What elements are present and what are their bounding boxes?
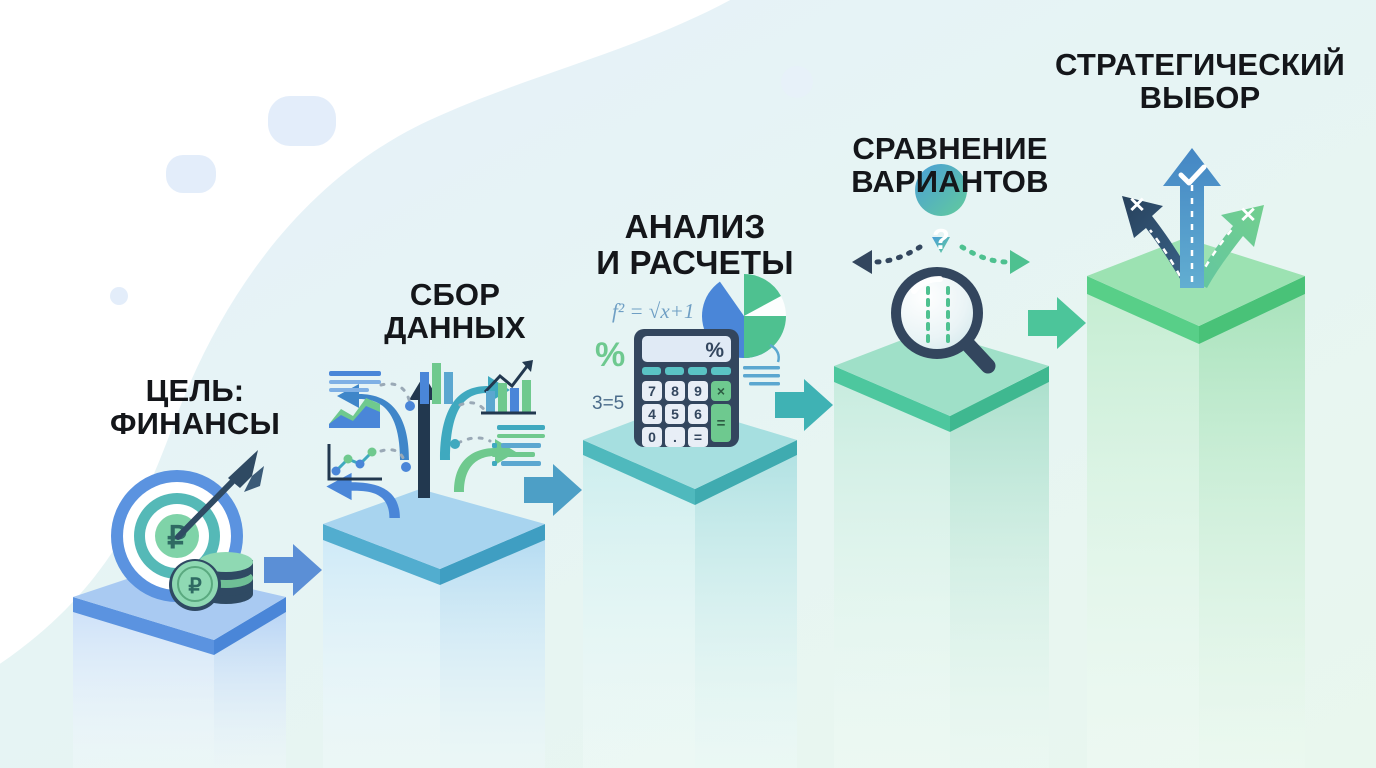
dotted-arrow-left [852,247,920,274]
connector-arrow-1 [264,544,322,596]
svg-text:0: 0 [648,429,656,445]
question-mark: ? [932,224,950,256]
svg-text:=: = [694,429,702,445]
step-2-title: СБОР ДАННЫХ [300,278,610,345]
arrow-right-icon [264,544,322,596]
infographic-canvas: ₽ ₽ [0,0,1376,768]
arrow-right-icon [524,464,582,516]
step-4-pillar [834,330,1049,768]
svg-text:.: . [673,429,677,445]
calculator-display: % [705,339,724,362]
step-3-icon-group: % 7 8 9 × 4 5 6 = [592,274,786,447]
dotted-arrow-right [962,247,1030,274]
svg-text:×: × [717,383,725,399]
cross-icon: ✕ [1128,194,1146,217]
svg-text:4: 4 [648,406,656,422]
pillar-side-face [950,382,1049,768]
step-5-title: СТРАТЕГИЧЕСКИЙ ВЫБОР [1020,48,1376,115]
step-5-pillar [1087,238,1305,768]
connector-arrow-2 [524,464,582,516]
step-4-title: СРАВНЕНИЕ ВАРИАНТОВ [800,132,1100,199]
arrow-right-icon [1028,297,1086,349]
pillar-front-face [583,455,695,768]
bar-columns-icon [420,363,453,404]
line-chart-icon [329,444,382,479]
connector-dot [450,439,460,449]
svg-text:₽: ₽ [188,575,202,598]
pillar-side-face [695,455,797,768]
svg-text:9: 9 [694,383,702,399]
formula-text: f² = √x+1 [612,299,694,323]
pillar-front-face [1087,294,1199,768]
connector-arrow-4 [1028,297,1086,349]
connector-dot [401,462,411,472]
svg-text:6: 6 [694,406,702,422]
svg-text:=: = [717,415,726,432]
bar-trend-chart-icon [481,360,536,413]
svg-text:7: 7 [648,383,656,399]
cross-icon: ✕ [1239,204,1257,227]
arrow-right-icon [775,379,833,431]
coin-ruble-icon: ₽ [169,559,221,611]
connector-arrow-3 [775,379,833,431]
svg-text:8: 8 [671,383,679,399]
step-1-title: ЦЕЛЬ: ФИНАНСЫ [40,374,350,441]
step-2-pillar [323,489,545,768]
svg-text:5: 5 [671,406,679,422]
pillar-front-face [834,382,950,768]
step-3-title: АНАЛИЗ И РАСЧЕТЫ [545,209,845,280]
calculator-icon: % 7 8 9 × 4 5 6 = [634,329,739,447]
equation-text: 3=5 [592,393,624,414]
pillar-side-face [1199,294,1305,768]
step-3-pillar [583,404,797,768]
connector-dot [405,401,415,411]
